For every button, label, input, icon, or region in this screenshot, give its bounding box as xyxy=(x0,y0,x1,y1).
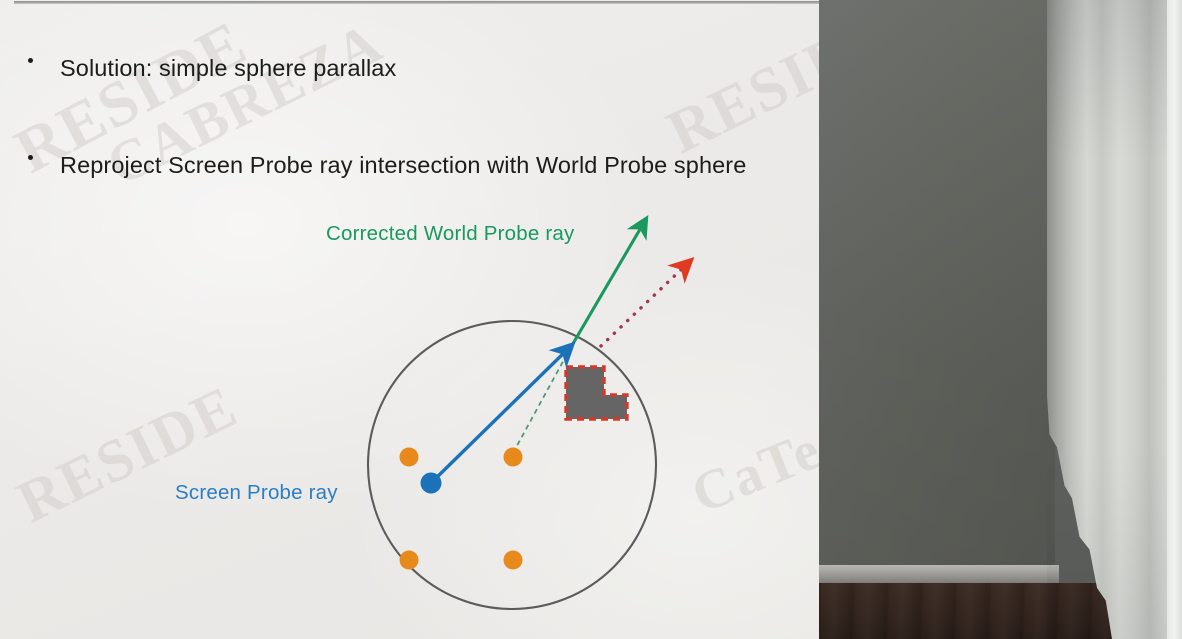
webcam-video-feed[interactable] xyxy=(819,0,1182,639)
corrected-world-probe-ray xyxy=(571,219,646,347)
screen-probe-origin-dot xyxy=(421,473,442,494)
occluder-block xyxy=(566,367,627,419)
screen-probe-ray-label: Screen Probe ray xyxy=(175,481,338,505)
world-probe-dot xyxy=(504,448,523,467)
presentation-screen: RESIDE CABREZA RESIDE CaTe RESIDE Soluti… xyxy=(0,0,1182,639)
room-baseboard xyxy=(819,565,1059,583)
world-probe-dot xyxy=(400,448,419,467)
world-probe-dot xyxy=(504,551,523,570)
room-curtain xyxy=(1047,0,1172,639)
screen-probe-ray xyxy=(433,345,572,481)
sphere-parallax-diagram xyxy=(0,0,819,639)
slide-panel: RESIDE CABREZA RESIDE CaTe RESIDE Soluti… xyxy=(0,0,819,639)
room-wood-floor xyxy=(819,583,1119,639)
world-probe-dashed-segment xyxy=(513,345,572,453)
world-probe-dot xyxy=(400,551,419,570)
corrected-world-probe-ray-label: Corrected World Probe ray xyxy=(326,222,574,246)
room-wall-shading xyxy=(819,0,1055,583)
video-right-edge xyxy=(1167,0,1182,639)
